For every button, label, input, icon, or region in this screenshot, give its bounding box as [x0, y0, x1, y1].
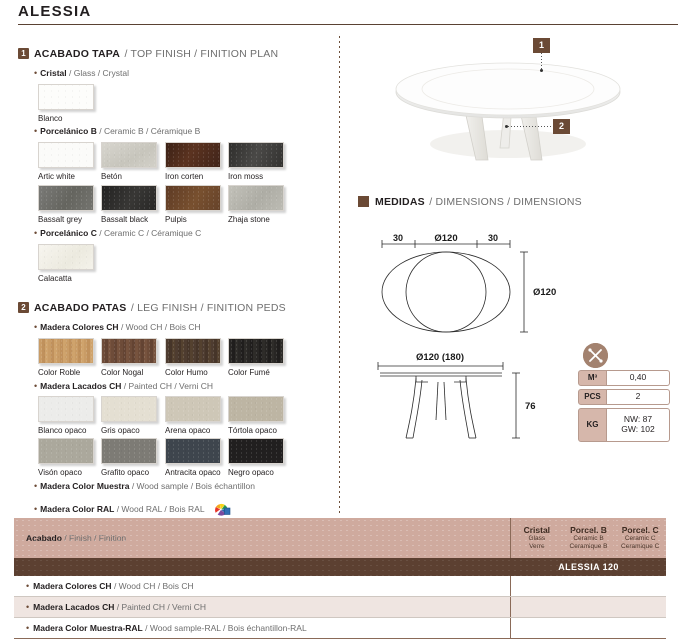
swatch-label-color-roble: Color Roble [38, 368, 94, 377]
table-row-label-lacados: •Madera Lacados CH / Painted CH / Verni … [14, 597, 511, 617]
bullet-icon: • [26, 581, 29, 591]
group-title-tr-madera-lacados: / Painted CH / Verni CH [124, 381, 213, 391]
packing-value-gw: GW: 102 [621, 425, 654, 435]
packing-row-m3: M³ 0,40 [578, 370, 670, 386]
swatch-color-negro-opaco[interactable] [228, 438, 284, 464]
packing-key-pcs: PCS [578, 389, 607, 405]
section-heading-top-finish: 1ACABADO TAPA / TOP FINISH / FINITION PL… [18, 45, 278, 60]
group-title-es-porcelanico-c: Porcelánico C [40, 228, 97, 238]
column-title-porcel-c-en: Ceramic C [625, 535, 656, 543]
section-title-es-1: ACABADO TAPA [34, 48, 120, 60]
bullet-icon: • [34, 68, 37, 78]
swatch-color-bassalt-grey[interactable] [38, 185, 94, 211]
table-header-finish-tr: / Finish / Finition [64, 533, 126, 543]
swatch-label-pulpis: Pulpis [165, 215, 221, 224]
page-header: ALESSIA [0, 0, 678, 26]
swatch-item-zhaja-stone[interactable]: Zhaja stone [228, 185, 284, 224]
swatch-label-color-nogal: Color Nogal [101, 368, 157, 377]
packing-info-table: M³ 0,40 PCS 2 KG NW: 87 GW: 102 [578, 340, 670, 445]
table-model-spacer [14, 558, 511, 576]
dim-top-diameter: Ø120 [434, 233, 457, 244]
swatch-item-iron-moss[interactable]: Iron moss [228, 142, 284, 181]
swatch-item-iron-corten[interactable]: Iron corten [165, 142, 221, 181]
swatch-label-arena-opaco: Arena opaco [165, 426, 221, 435]
dimensions-title-tr: / DIMENSIONS / DIMENSIONS [429, 196, 582, 208]
swatch-color-antracita-opaco[interactable] [165, 438, 221, 464]
column-title-porcel-b-fr: Ceramique B [570, 543, 608, 551]
swatch-color-pulpis[interactable] [165, 185, 221, 211]
section-title-tr-1: / TOP FINISH / FINITION PLAN [124, 48, 278, 60]
swatch-label-negro-opaco: Negro opaco [228, 468, 284, 477]
group-heading-cristal: •Cristal / Glass / Crystal [34, 68, 129, 78]
finish-availability-table: Acabado / Finish / Finition Cristal Glas… [14, 518, 666, 639]
section-number-badge-1: 1 [18, 48, 29, 59]
bullet-icon: • [34, 481, 37, 491]
swatch-item-pulpis[interactable]: Pulpis [165, 185, 221, 224]
group-heading-madera-color-ral: •Madera Color RAL / Wood RAL / Bois RAL [34, 500, 231, 518]
swatch-label-gris-opaco: Gris opaco [101, 426, 157, 435]
table-column-porcel-b: Porcel. B Ceramic B Ceramique B [563, 518, 615, 558]
bullet-icon: • [34, 126, 37, 136]
dimensions-heading: MEDIDAS / DIMENSIONS / DIMENSIONS [358, 193, 582, 211]
swatch-label-color-humo: Color Humo [165, 368, 221, 377]
swatch-color-color-roble[interactable] [38, 338, 94, 364]
row-label-es-muestra-ral: Madera Color Muestra-RAL [33, 623, 143, 633]
swatch-item-antracita-opaco[interactable]: Antracita opaco [165, 438, 221, 477]
row-label-tr-muestra-ral: / Wood sample-RAL / Bois échantillon-RAL [145, 623, 307, 633]
swatch-label-bassalt-black: Bassalt black [101, 215, 157, 224]
swatch-label-antracita-opaco: Antracita opaco [165, 468, 221, 477]
group-title-tr-muestra: / Wood sample / Bois échantillon [132, 481, 255, 491]
group-title-tr-madera-colores: / Wood CH / Bois CH [121, 322, 201, 332]
dim-left-extension: 30 [393, 233, 403, 243]
section-heading-leg-finish: 2ACABADO PATAS / LEG FINISH / FINITION P… [18, 299, 286, 314]
swatch-item-color-fume[interactable]: Color Fumé [228, 338, 284, 377]
packing-row-pcs: PCS 2 [578, 389, 670, 405]
table-row: •Madera Colores CH / Wood CH / Bois CH [14, 576, 666, 597]
bullet-icon: • [34, 381, 37, 391]
bullet-icon: • [26, 623, 29, 633]
callout-badge-1: 1 [533, 38, 550, 53]
column-title-cristal-fr: Verre [529, 543, 545, 551]
column-title-porcel-c-fr: Ceramique C [621, 543, 659, 551]
swatch-color-blanco[interactable] [38, 84, 94, 110]
swatch-label-vison-opaco: Visón opaco [38, 468, 94, 477]
dim-right-extension: 30 [488, 233, 498, 243]
swatch-label-bassalt-grey: Bassalt grey [38, 215, 94, 224]
swatch-color-bassalt-black[interactable] [101, 185, 157, 211]
group-title-es-madera-lacados: Madera Lacados CH [40, 381, 121, 391]
row-label-es-colores: Madera Colores CH [33, 581, 111, 591]
group-heading-madera-color-muestra: •Madera Color Muestra / Wood sample / Bo… [34, 481, 255, 491]
swatch-color-iron-moss[interactable] [228, 142, 284, 168]
section-title-es-2: ACABADO PATAS [34, 302, 126, 314]
swatch-label-calacatta: Calacatta [38, 274, 94, 283]
dimensions-marker-icon [358, 196, 369, 207]
column-title-cristal-en: Glass [529, 535, 546, 543]
swatch-label-tortola-opaco: Tórtola opaco [228, 426, 284, 435]
row-label-es-lacados: Madera Lacados CH [33, 602, 114, 612]
swatch-color-grafito-opaco[interactable] [101, 438, 157, 464]
dimension-drawing-side-view: Ø120 (180) 76 [358, 342, 558, 457]
swatch-color-tortola-opaco[interactable] [228, 396, 284, 422]
packing-value-m3: 0,40 [607, 370, 670, 386]
swatch-color-vison-opaco[interactable] [38, 438, 94, 464]
table-column-cristal: Cristal Glass Verre [511, 518, 563, 558]
table-row-values-muestra-ral [511, 618, 666, 638]
column-title-porcel-c: Porcel. C [622, 525, 659, 536]
dimension-drawing-top-view: 30 Ø120 30 Ø120 [358, 222, 558, 339]
table-model-name: ALESSIA 120 [511, 558, 666, 576]
bullet-icon: • [34, 504, 37, 514]
callout-badge-2: 2 [553, 119, 570, 134]
product-photo-alessia-table [368, 44, 648, 184]
swatch-color-color-fume[interactable] [228, 338, 284, 364]
swatch-label-iron-corten: Iron corten [165, 172, 221, 181]
swatch-label-zhaja-stone: Zhaja stone [228, 215, 284, 224]
swatch-item-color-nogal[interactable]: Color Nogal [101, 338, 157, 377]
table-row-label-muestra-ral: •Madera Color Muestra-RAL / Wood sample-… [14, 618, 511, 638]
group-title-tr-porcelanico-c: / Ceramic C / Céramique C [99, 228, 201, 238]
page-title: ALESSIA [18, 3, 91, 20]
group-heading-porcelanico-b: •Porcelánico B / Ceramic B / Céramique B [34, 126, 200, 136]
swatch-item-bassalt-black[interactable]: Bassalt black [101, 185, 157, 224]
swatch-color-color-nogal[interactable] [101, 338, 157, 364]
swatch-item-color-humo[interactable]: Color Humo [165, 338, 221, 377]
table-column-porcel-c: Porcel. C Ceramic C Ceramique C [614, 518, 666, 558]
swatch-color-beton[interactable] [101, 142, 157, 168]
group-title-tr-cristal: / Glass / Crystal [69, 68, 129, 78]
table-header-row: Acabado / Finish / Finition Cristal Glas… [14, 518, 666, 558]
swatch-item-arena-opaco[interactable]: Arena opaco [165, 396, 221, 435]
group-title-es-muestra: Madera Color Muestra [40, 481, 129, 491]
dim-side-diameter: Ø120 [533, 287, 556, 298]
group-title-es-cristal: Cristal [40, 68, 66, 78]
callout-leader-1 [541, 53, 542, 69]
swatch-color-zhaja-stone[interactable] [228, 185, 284, 211]
bullet-icon: • [34, 322, 37, 332]
table-row: •Madera Color Muestra-RAL / Wood sample-… [14, 618, 666, 639]
row-label-tr-lacados: / Painted CH / Verni CH [117, 602, 206, 612]
swatch-item-artic-white[interactable]: Artic white [38, 142, 94, 181]
group-heading-madera-colores: •Madera Colores CH / Wood CH / Bois CH [34, 322, 201, 332]
swatch-color-arena-opaco[interactable] [165, 396, 221, 422]
swatch-color-blanco-opaco[interactable] [38, 396, 94, 422]
swatch-label-blanco-opaco: Blanco opaco [38, 426, 94, 435]
column-title-porcel-b: Porcel. B [570, 525, 607, 536]
callout-dot-1 [540, 69, 543, 72]
ral-palette-icon [211, 500, 231, 518]
group-title-tr-ral: / Wood RAL / Bois RAL [117, 504, 205, 514]
table-row: •Madera Lacados CH / Painted CH / Verni … [14, 597, 666, 618]
packing-value-kg: NW: 87 GW: 102 [607, 408, 670, 442]
title-divider [18, 24, 678, 25]
group-title-tr-porcelanico-b: / Ceramic B / Céramique B [99, 126, 200, 136]
swatch-label-artic-white: Artic white [38, 172, 94, 181]
swatch-item-blanco[interactable]: Blanco [38, 84, 94, 123]
swatch-label-color-fume: Color Fumé [228, 368, 284, 377]
table-row-values-lacados [511, 597, 666, 617]
swatch-label-beton: Betón [101, 172, 157, 181]
column-title-cristal: Cristal [524, 525, 550, 536]
group-title-es-ral: Madera Color RAL [40, 504, 114, 514]
table-model-row: ALESSIA 120 [14, 558, 666, 576]
packing-key-m3: M³ [578, 370, 607, 386]
swatch-color-color-humo[interactable] [165, 338, 221, 364]
table-header-finish-cell: Acabado / Finish / Finition [14, 518, 511, 558]
swatch-item-bassalt-grey[interactable]: Bassalt grey [38, 185, 94, 224]
column-divider [339, 36, 340, 514]
swatch-item-color-roble[interactable]: Color Roble [38, 338, 94, 377]
swatch-label-grafito-opaco: Grafito opaco [101, 468, 157, 477]
packing-value-pcs: 2 [607, 389, 670, 405]
dimensions-title-es: MEDIDAS [375, 196, 425, 208]
bullet-icon: • [26, 602, 29, 612]
section-title-tr-2: / LEG FINISH / FINITION PEDS [131, 302, 286, 314]
swatch-color-artic-white[interactable] [38, 142, 94, 168]
swatch-color-calacatta[interactable] [38, 244, 94, 270]
swatch-item-beton[interactable]: Betón [101, 142, 157, 181]
table-row-values-colores [511, 576, 666, 596]
swatch-item-tortola-opaco[interactable]: Tórtola opaco [228, 396, 284, 435]
column-title-porcel-b-en: Ceramic B [573, 535, 603, 543]
callout-leader-2 [508, 126, 552, 127]
table-row-label-colores: •Madera Colores CH / Wood CH / Bois CH [14, 576, 511, 596]
table-header-finish-es: Acabado [26, 533, 62, 543]
swatch-color-iron-corten[interactable] [165, 142, 221, 168]
group-title-es-porcelanico-b: Porcelánico B [40, 126, 97, 136]
dim-height: 76 [525, 401, 536, 412]
section-number-badge-2: 2 [18, 302, 29, 313]
swatch-item-grafito-opaco[interactable]: Grafito opaco [101, 438, 157, 477]
packing-row-kg: KG NW: 87 GW: 102 [578, 408, 670, 442]
swatch-item-blanco-opaco[interactable]: Blanco opaco [38, 396, 94, 435]
callout-dot-2 [505, 125, 508, 128]
swatch-label-iron-moss: Iron moss [228, 172, 284, 181]
swatch-item-calacatta[interactable]: Calacatta [38, 244, 94, 283]
swatch-item-negro-opaco[interactable]: Negro opaco [228, 438, 284, 477]
group-heading-madera-lacados: •Madera Lacados CH / Painted CH / Verni … [34, 381, 213, 391]
dim-side-width: Ø120 (180) [416, 352, 464, 363]
swatch-label-blanco: Blanco [38, 114, 94, 123]
swatch-color-gris-opaco[interactable] [101, 396, 157, 422]
bullet-icon: • [34, 228, 37, 238]
swatch-item-vison-opaco[interactable]: Visón opaco [38, 438, 94, 477]
group-title-es-madera-colores: Madera Colores CH [40, 322, 118, 332]
row-label-tr-colores: / Wood CH / Bois CH [114, 581, 194, 591]
group-heading-porcelanico-c: •Porcelánico C / Ceramic C / Céramique C [34, 228, 201, 238]
swatch-item-gris-opaco[interactable]: Gris opaco [101, 396, 157, 435]
packing-key-kg: KG [578, 408, 607, 442]
